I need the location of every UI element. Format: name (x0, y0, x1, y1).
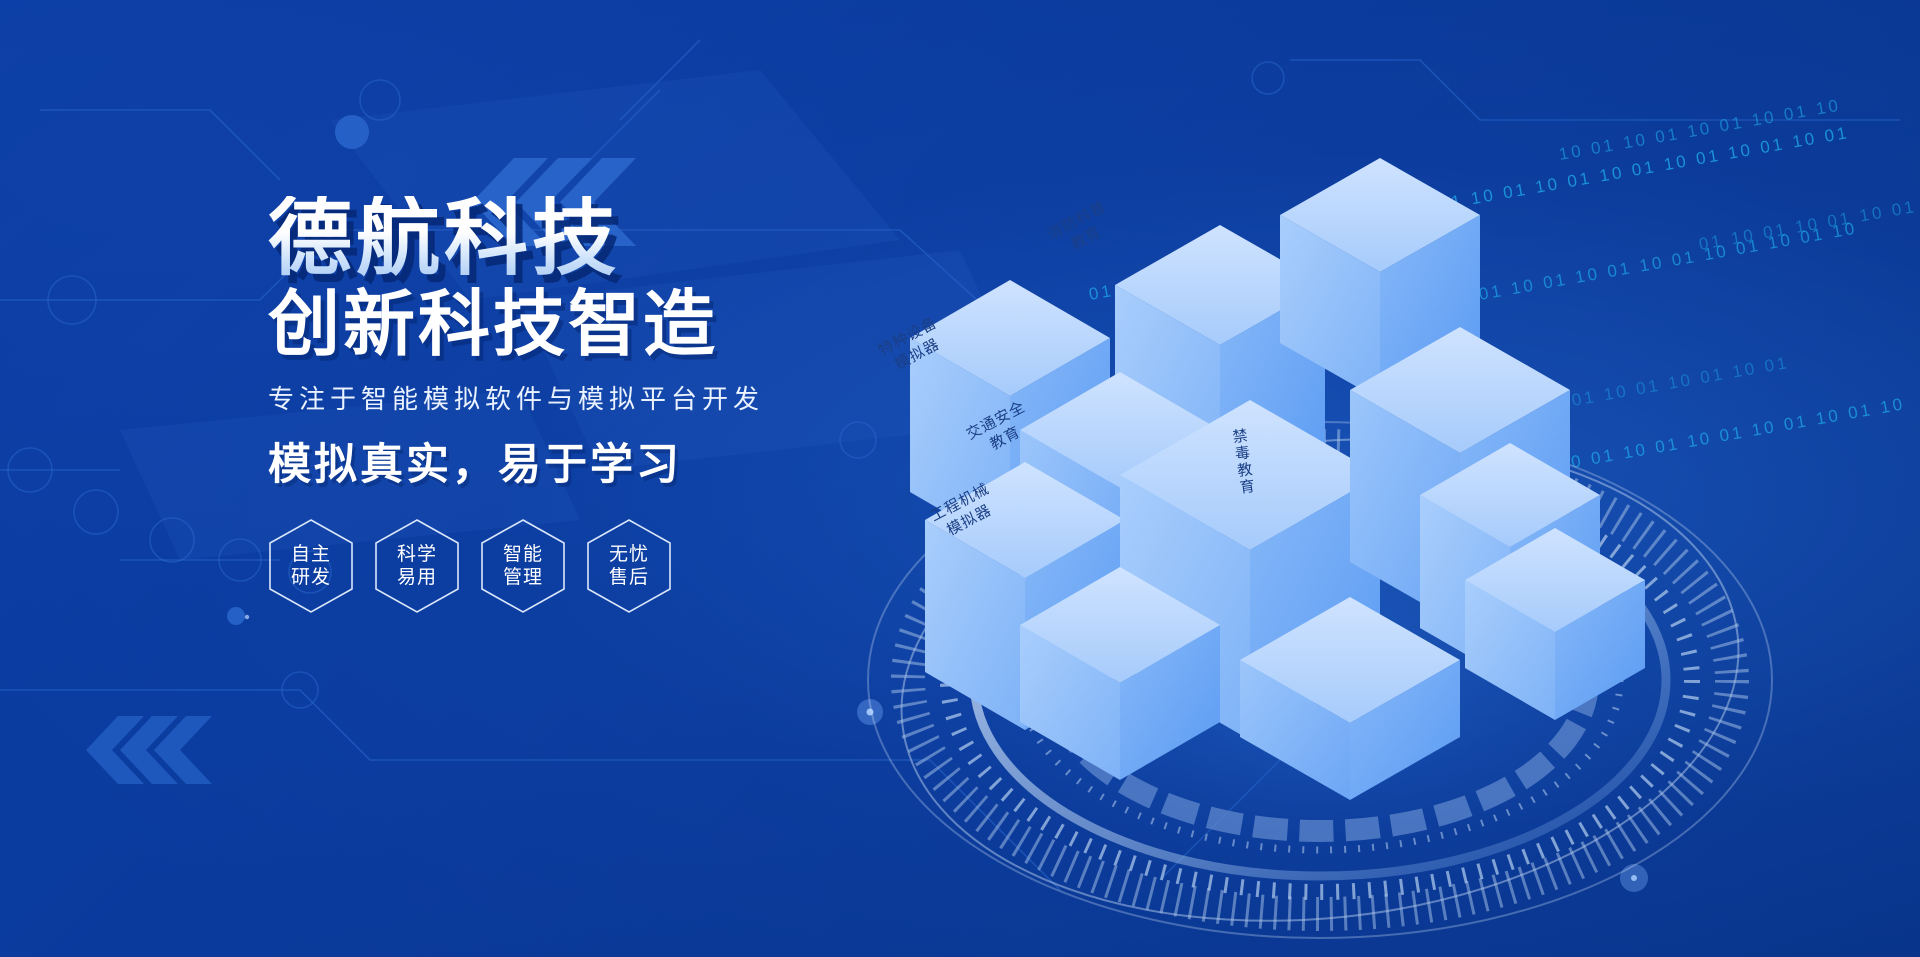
feature-badge-self-developed[interactable]: 自主 研发 (268, 518, 354, 614)
cube-special-equipment (910, 280, 1110, 550)
cube-fire-education (1280, 158, 1480, 400)
cube-right-low (1465, 528, 1645, 720)
hero-text-block: 德航科技 创新科技智造 专注于智能模拟软件与模拟平台开发 模拟真实，易于学习 自… (268, 196, 908, 614)
feature-badge-smart-management[interactable]: 智能 管理 (480, 518, 566, 614)
feature-badge-label: 智能 管理 (503, 543, 543, 591)
binary-row: 01 10 01 10 01 10 01 10 01 10 01 10 01 (1437, 123, 1850, 214)
tagline: 模拟真实，易于学习 (268, 430, 908, 492)
binary-row: 10 01 10 01 10 01 10 01 10 01 (1157, 282, 1474, 356)
cube-label-engineering-machinery: 工程机械 模拟器 (927, 479, 1003, 545)
cube-label-anti-drug-education: 禁毒教育 (1229, 427, 1256, 497)
hero-banner: 01 10 01 10 01 10 01 10 01 10 01 10 10 0… (0, 0, 1920, 957)
cube-center-front (1120, 400, 1380, 740)
binary-row: 10 01 10 01 10 01 10 01 10 01 10 (1557, 394, 1906, 474)
binary-row: 01 10 01 10 01 10 01 10 01 10 01 10 (1087, 219, 1468, 304)
feature-badge-label: 科学 易用 (397, 543, 437, 591)
binary-row: 01 10 01 10 01 10 01 10 01 10 01 10 (1477, 219, 1858, 304)
feature-badge-label: 自主 研发 (291, 543, 331, 591)
cube-front-bottom-right (1240, 597, 1460, 800)
feature-badge-scientific-easy[interactable]: 科学 易用 (374, 518, 460, 614)
cube-label-fire-education: 消防科普 教育 (1044, 197, 1120, 263)
feature-badge-worry-free-service[interactable]: 无忧 售后 (586, 518, 672, 614)
headline: 创新科技智造 (268, 288, 908, 364)
cube-right-mid (1350, 327, 1570, 625)
cube-traffic-safety (1020, 372, 1220, 640)
subtitle: 专注于智能模拟软件与模拟平台开发 (268, 379, 908, 416)
binary-row: 01 10 01 10 01 10 01 10 01 10 01 10 01 (1377, 353, 1790, 444)
cube-engineering-machinery (925, 462, 1125, 730)
cube-label-traffic-safety: 交通安全 教育 (963, 397, 1039, 463)
feature-badge-label: 无忧 售后 (609, 543, 649, 591)
feature-badge-list: 自主 研发 科学 易用 智能 管理 无忧 售后 (268, 518, 908, 614)
cube-back-center (1115, 225, 1325, 510)
binary-row: 10 01 10 01 10 01 10 01 10 (1557, 96, 1842, 164)
brand-title: 德航科技 (268, 196, 908, 282)
cube-front-bottom-left (1020, 567, 1220, 780)
cube-anti-drug-education (1420, 443, 1600, 680)
binary-row: 01 10 01 10 01 10 01 10 01 10 01 10 (1697, 169, 1920, 254)
